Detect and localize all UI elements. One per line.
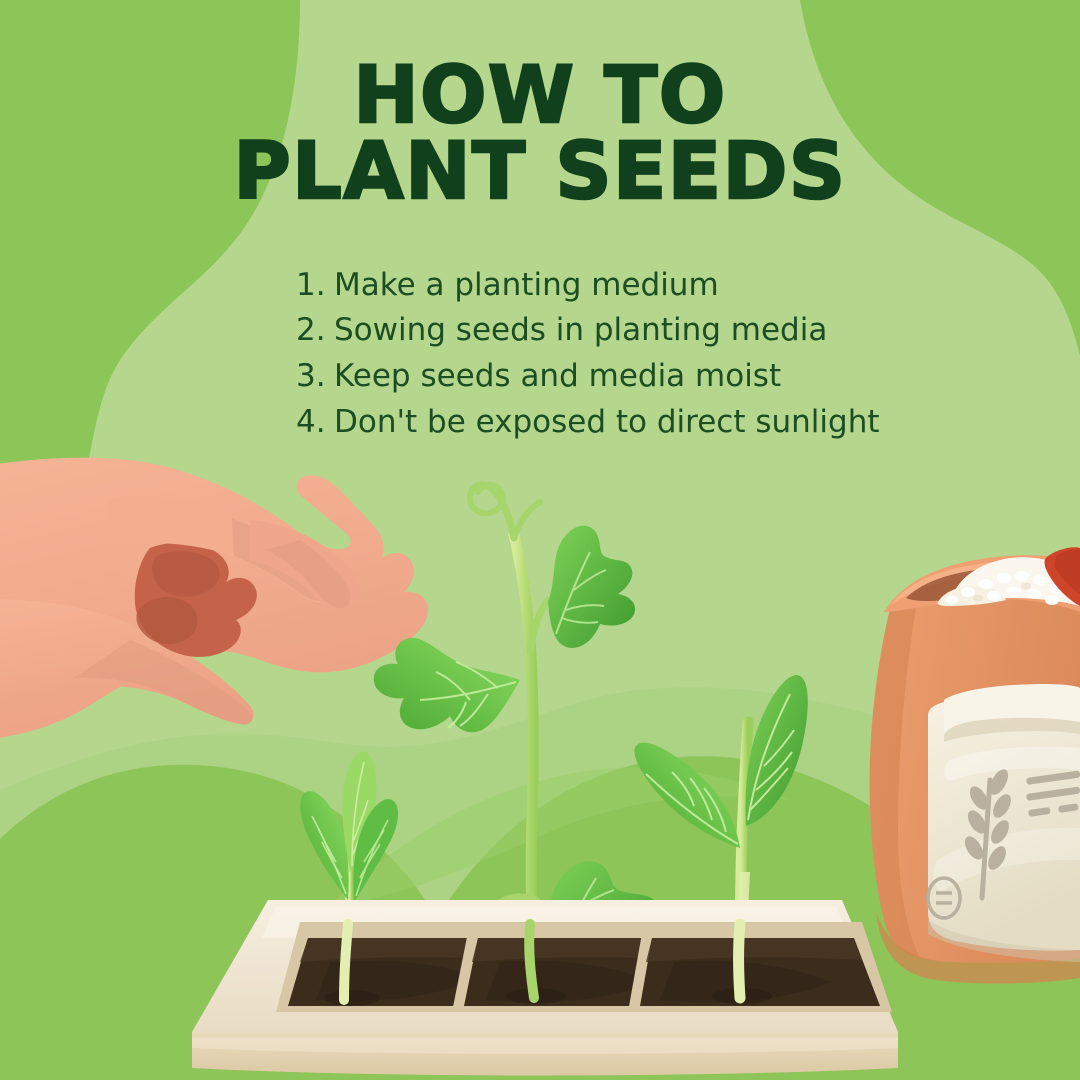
stem-center-in-soil xyxy=(529,924,534,998)
stem-right-in-soil xyxy=(739,924,741,998)
tray-cell-3 xyxy=(628,922,892,1012)
tray xyxy=(192,900,898,1076)
stem-left-in-soil xyxy=(344,924,348,1000)
poster-canvas: HOW TO PLANT SEEDS 1. Make a planting me… xyxy=(0,0,1080,1080)
seed-tray-illustration xyxy=(0,0,1080,1080)
